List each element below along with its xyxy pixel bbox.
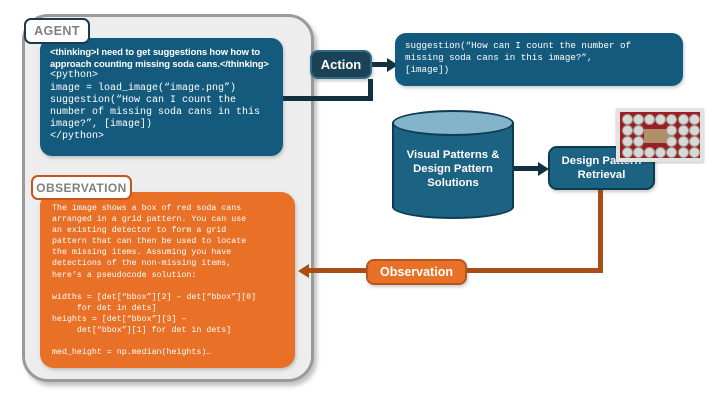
database-label-line-3: Solutions [392,176,514,190]
soda-can-top [689,114,700,125]
agent-tab-label: AGENT [24,18,90,44]
soda-can-top [622,147,633,158]
database-label-line-2: Design Pattern [392,162,514,176]
soda-can-top [633,136,644,147]
connector-retrieval-down-vertical [598,190,603,270]
soda-can-top [678,114,689,125]
observation-block: The image shows a box of red soda cans a… [40,192,295,368]
soda-can-top [678,125,689,136]
soda-can-top [633,125,644,136]
soda-can-top [678,136,689,147]
soda-can-top [633,114,644,125]
soda-can-top [689,125,700,136]
connector-observation-label-to-panel [305,268,368,273]
action-label: Action [310,50,372,79]
agent-tab-text: AGENT [34,24,80,38]
cylinder-top-ellipse [392,110,514,136]
suggestion-call-text: suggestion(“How can I count the number o… [405,40,673,75]
soda-can-top [655,114,666,125]
diagram-canvas: AGENT <thinking>I need to get suggestion… [0,0,720,405]
soda-can-tray-thumbnail [616,108,704,162]
soda-can-top [666,125,677,136]
soda-can-top [689,136,700,147]
soda-can-top [666,114,677,125]
action-label-text: Action [321,57,361,72]
soda-can-top [644,147,655,158]
soda-can-top [666,136,677,147]
soda-can-top [622,125,633,136]
agent-thinking-text: <thinking>I need to get suggestions how … [50,46,274,70]
connector-agent-to-action-horizontal [283,96,373,101]
database-label-line-1: Visual Patterns & [392,148,514,162]
soda-can-top [633,147,644,158]
soda-can-top [655,147,666,158]
suggestion-call-block: suggestion(“How can I count the number o… [395,33,683,86]
observation-flow-label: Observation [366,259,467,285]
arrowhead-to-observation-icon [298,264,309,278]
visual-pattern-database-cylinder: Visual Patterns & Design Pattern Solutio… [392,110,514,208]
agent-python-code: <python> image = load_image(“image.png”)… [50,70,274,143]
soda-can-top [644,114,655,125]
soda-can-tray [620,112,700,158]
soda-can-top [622,114,633,125]
observation-flow-label-text: Observation [380,265,453,279]
database-label: Visual Patterns & Design Pattern Solutio… [392,148,514,190]
observation-tab-label: OBSERVATION [31,175,132,200]
connector-action-vertical [368,79,373,101]
observation-tab-text: OBSERVATION [36,181,126,195]
retrieval-label-line-2: Retrieval [562,168,642,182]
soda-can-top [678,147,689,158]
observation-body-text: The image shows a box of red soda cans a… [52,203,285,358]
soda-can-top [666,147,677,158]
connector-retrieval-to-observation-label [465,268,603,273]
agent-code-block: <thinking>I need to get suggestions how … [40,38,283,156]
soda-can-top [622,136,633,147]
soda-can-top [689,147,700,158]
